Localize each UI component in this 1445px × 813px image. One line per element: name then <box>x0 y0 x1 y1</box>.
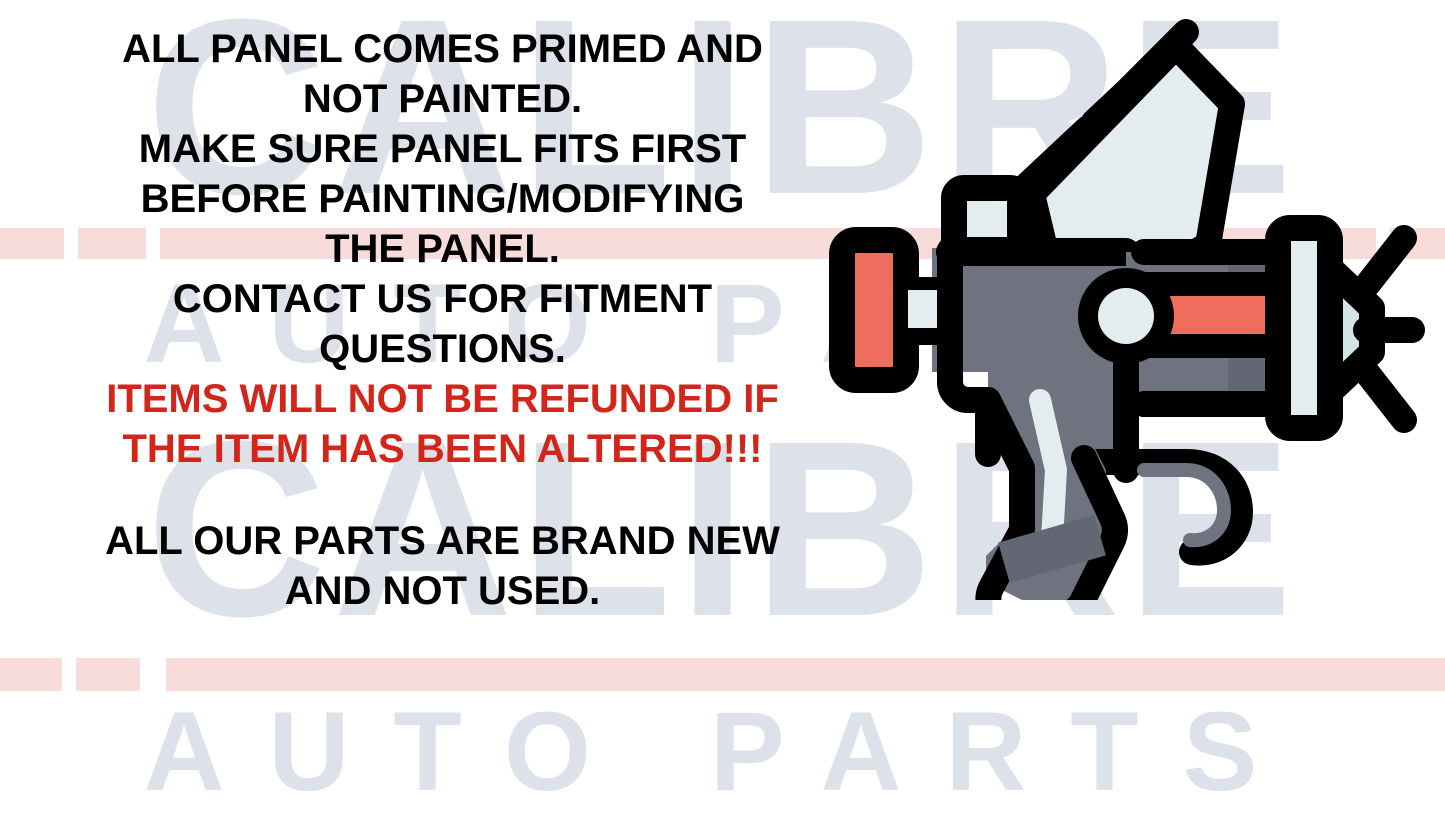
paint-spray-gun-icon <box>826 0 1445 600</box>
spray-lines <box>1366 238 1412 420</box>
warning-line: ITEMS WILL NOT BE REFUNDED IF <box>0 374 885 424</box>
notice-line: ALL OUR PARTS ARE BRAND NEW <box>0 516 885 566</box>
pink-stripe-segment <box>166 658 1445 691</box>
pink-stripe-segment <box>76 658 140 691</box>
notice-line: ALL PANEL COMES PRIMED AND <box>0 24 885 74</box>
notice-line: CONTACT US FOR FITMENT <box>0 274 885 324</box>
notice-banner: CALIBRE AUTO PARTS CALIBRE AUTO PARTS <box>0 0 1445 813</box>
notice-line: NOT PAINTED. <box>0 74 885 124</box>
watermark-autoparts-bottom: AUTO PARTS <box>0 696 1445 808</box>
warning-line: THE ITEM HAS BEEN ALTERED!!! <box>0 424 885 474</box>
line-spacer <box>0 474 885 516</box>
notice-line: THE PANEL. <box>0 224 885 274</box>
notice-line: AND NOT USED. <box>0 566 885 616</box>
notice-line: BEFORE PAINTING/MODIFYING <box>0 174 885 224</box>
pink-stripe-segment <box>0 658 62 691</box>
notice-line: QUESTIONS. <box>0 324 885 374</box>
notice-line: MAKE SURE PANEL FITS FIRST <box>0 124 885 174</box>
notice-text-block: ALL PANEL COMES PRIMED AND NOT PAINTED. … <box>0 24 885 616</box>
